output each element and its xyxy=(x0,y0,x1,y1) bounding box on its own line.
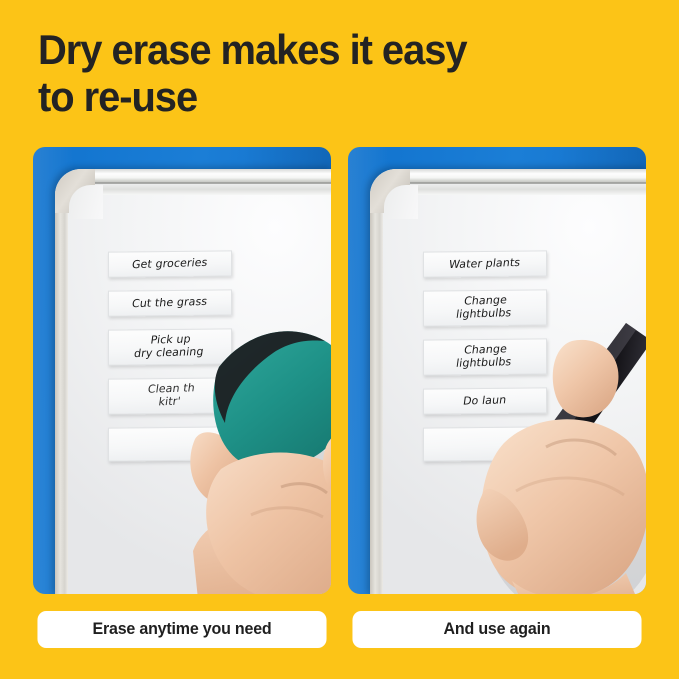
index-finger xyxy=(553,340,619,417)
hand-with-eraser xyxy=(185,319,331,594)
right-panel: Water plants Change lightbulbs Change li… xyxy=(348,147,646,594)
page-headline: Dry erase makes it easy to re-use xyxy=(38,26,608,120)
board-corner-cap xyxy=(370,169,410,213)
feature-panels: Get groceries Cut the grass Pick up dry … xyxy=(33,147,646,594)
board-rail-highlight xyxy=(89,182,331,184)
board-left-edge xyxy=(55,191,68,594)
list-item-label: Cut the grass xyxy=(131,295,208,310)
left-panel: Get groceries Cut the grass Pick up dry … xyxy=(33,147,331,594)
list-item: Cut the grass xyxy=(108,289,232,316)
caption-right: And use again xyxy=(352,611,641,648)
caption-row: Erase anytime you need And use again xyxy=(33,611,646,648)
caption-left: Erase anytime you need xyxy=(37,611,326,648)
list-item-label: Water plants xyxy=(449,257,522,272)
hand-with-marker xyxy=(476,315,646,594)
list-item: Get groceries xyxy=(108,250,232,277)
board-rail-highlight xyxy=(404,182,646,184)
list-item-label: Get groceries xyxy=(131,256,208,271)
board-left-edge xyxy=(370,191,383,594)
list-item: Water plants xyxy=(423,250,547,277)
board-corner-cap xyxy=(55,169,95,213)
